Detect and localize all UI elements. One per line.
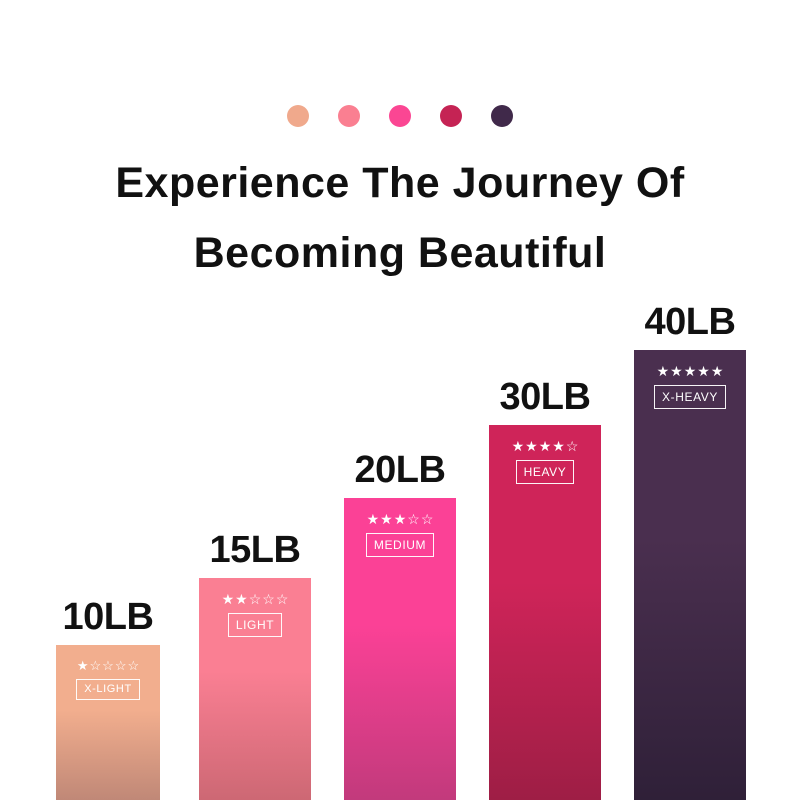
star-filled-icon: ★ [394, 512, 407, 526]
star-filled-icon: ★ [552, 439, 565, 453]
bar-weight-label: 40LB [645, 301, 736, 344]
bar-label-group: ★☆☆☆☆X-LIGHT [56, 645, 160, 700]
star-filled-icon: ★ [711, 364, 724, 378]
star-rating: ★★★★☆ [512, 439, 579, 453]
star-filled-icon: ★ [367, 512, 380, 526]
star-rating: ★★★★★ [657, 364, 724, 378]
bar-column-40lb[interactable]: 40LB★★★★★X-HEAVY [634, 350, 746, 800]
bar-body: ★★★★★X-HEAVY [634, 350, 746, 800]
bar-tag-label: MEDIUM [366, 533, 434, 557]
star-empty-icon: ☆ [127, 659, 139, 672]
bar-label-group: ★★★★★X-HEAVY [634, 350, 746, 409]
star-filled-icon: ★ [525, 439, 538, 453]
star-empty-icon: ☆ [102, 659, 114, 672]
bar-label-group: ★★☆☆☆LIGHT [199, 578, 311, 637]
infographic-canvas: Experience The Journey Of Becoming Beaut… [0, 0, 800, 800]
bar-tag-label: HEAVY [516, 460, 575, 484]
star-filled-icon: ★ [380, 512, 393, 526]
star-filled-icon: ★ [657, 364, 670, 378]
bar-column-10lb[interactable]: 10LB★☆☆☆☆X-LIGHT [56, 645, 160, 800]
bar-column-20lb[interactable]: 20LB★★★☆☆MEDIUM [344, 498, 456, 800]
star-empty-icon: ☆ [407, 512, 420, 526]
bar-label-group: ★★★☆☆MEDIUM [344, 498, 456, 557]
bar-weight-label: 10LB [63, 596, 154, 639]
bar-tag-label: LIGHT [228, 613, 282, 637]
bar-weight-label: 15LB [210, 529, 301, 572]
star-rating: ★★★☆☆ [367, 512, 434, 526]
star-filled-icon: ★ [235, 592, 248, 606]
bar-weight-label: 20LB [355, 449, 446, 492]
star-filled-icon: ★ [222, 592, 235, 606]
star-rating: ★☆☆☆☆ [77, 659, 139, 672]
bar-label-group: ★★★★☆HEAVY [489, 425, 601, 484]
star-rating: ★★☆☆☆ [222, 592, 289, 606]
star-filled-icon: ★ [684, 364, 697, 378]
star-filled-icon: ★ [77, 659, 89, 672]
star-empty-icon: ☆ [276, 592, 289, 606]
bar-body: ★☆☆☆☆X-LIGHT [56, 645, 160, 800]
bar-column-30lb[interactable]: 30LB★★★★☆HEAVY [489, 425, 601, 800]
bar-column-15lb[interactable]: 15LB★★☆☆☆LIGHT [199, 578, 311, 800]
star-empty-icon: ☆ [249, 592, 262, 606]
star-empty-icon: ☆ [566, 439, 579, 453]
bar-body: ★★☆☆☆LIGHT [199, 578, 311, 800]
star-filled-icon: ★ [697, 364, 710, 378]
star-empty-icon: ☆ [421, 512, 434, 526]
bar-body: ★★★☆☆MEDIUM [344, 498, 456, 800]
star-filled-icon: ★ [670, 364, 683, 378]
star-empty-icon: ☆ [115, 659, 127, 672]
bar-body: ★★★★☆HEAVY [489, 425, 601, 800]
bar-tag-label: X-HEAVY [654, 385, 726, 409]
bar-weight-label: 30LB [500, 376, 591, 419]
resistance-band-bar-chart: 10LB★☆☆☆☆X-LIGHT15LB★★☆☆☆LIGHT20LB★★★☆☆M… [0, 0, 800, 800]
bar-tag-label: X-LIGHT [76, 679, 140, 700]
star-empty-icon: ☆ [262, 592, 275, 606]
star-filled-icon: ★ [512, 439, 525, 453]
star-empty-icon: ☆ [90, 659, 102, 672]
star-filled-icon: ★ [539, 439, 552, 453]
bar-fill [634, 350, 746, 800]
